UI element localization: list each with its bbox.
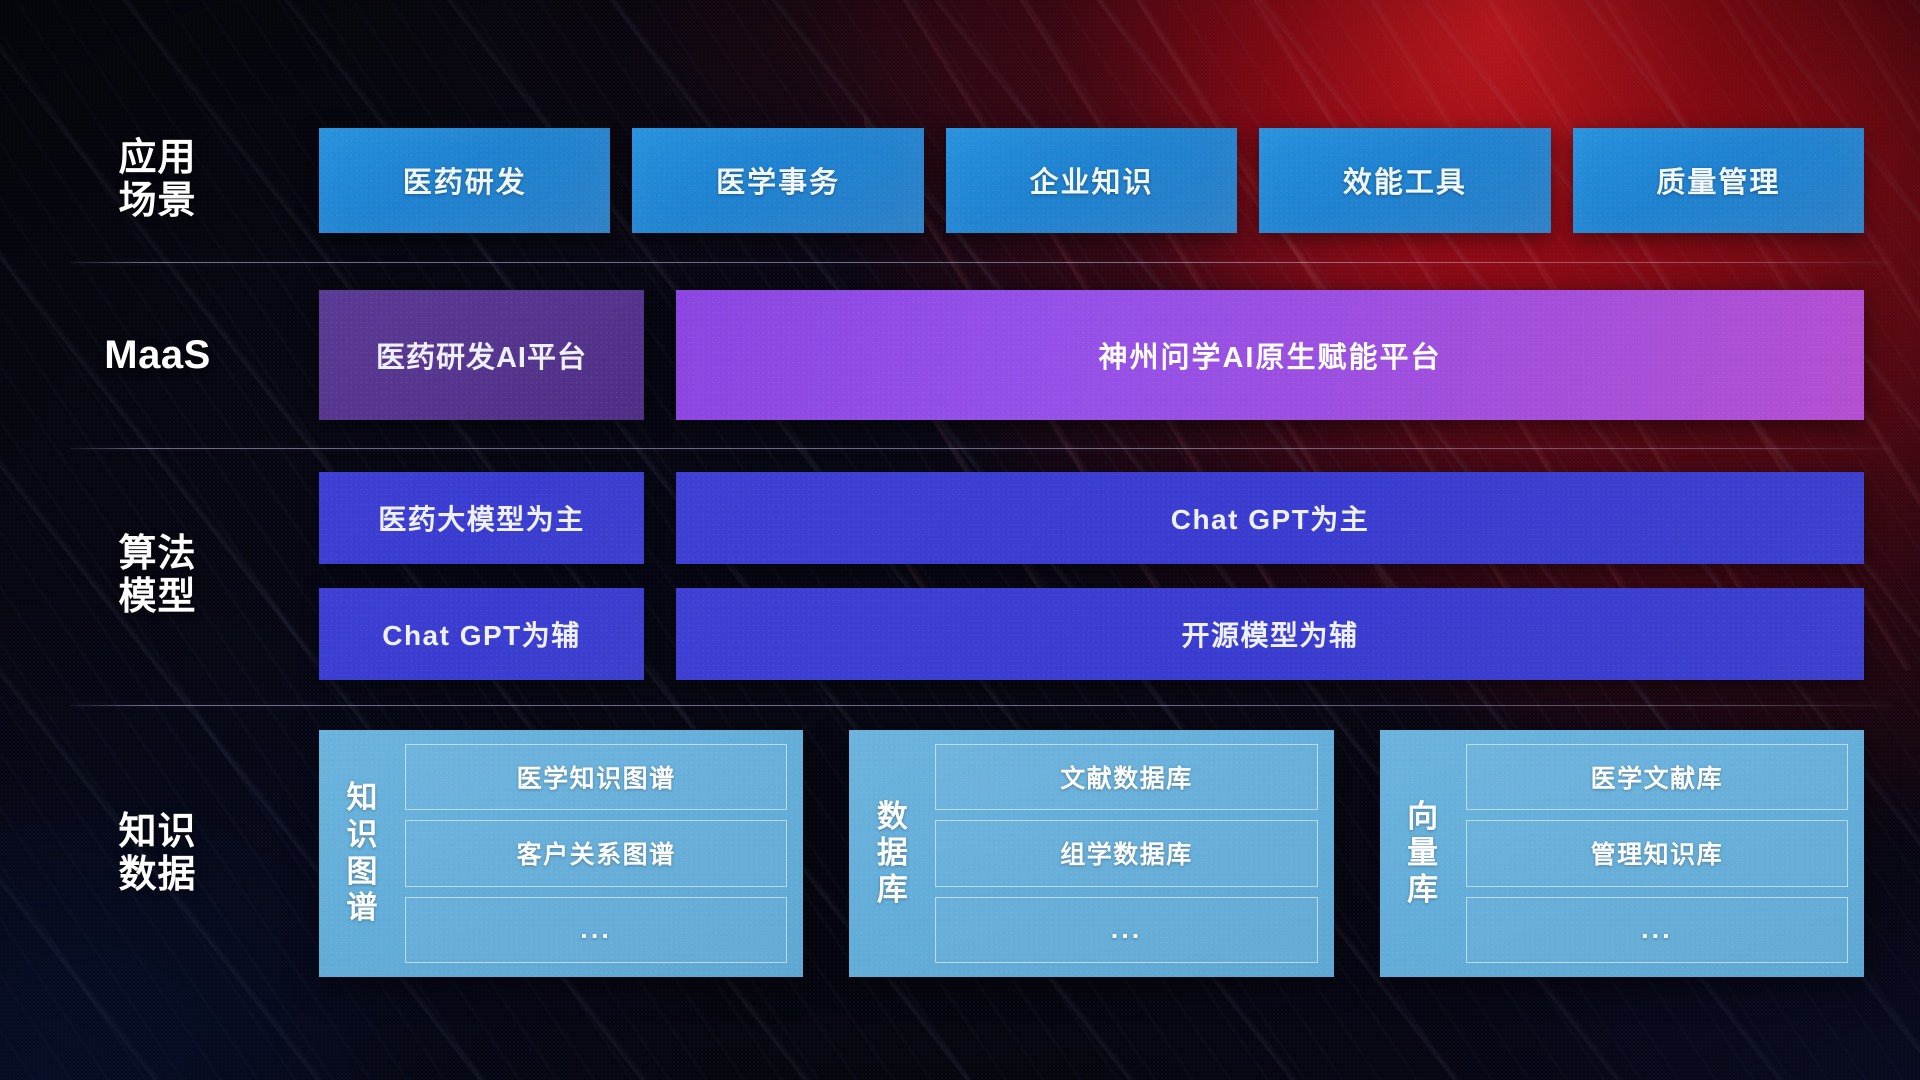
knowledge-panel-1-items: 医学知识图谱 客户关系图谱 ... bbox=[405, 744, 787, 963]
maas-card-pharma-platform-label: 医药研发AI平台 bbox=[376, 334, 587, 376]
row-application-scenarios: 应用 场景 医药研发 医学事务 企业知识 效能工具 质量管理 bbox=[70, 125, 1892, 235]
knowledge-panel-3-title: 向量库 bbox=[1396, 744, 1450, 963]
algorithm-model-line-2: Chat GPT为辅 开源模型为辅 bbox=[319, 588, 1864, 680]
algorithm-model-line-1: 医药大模型为主 Chat GPT为主 bbox=[319, 472, 1864, 564]
maas-card-shenzhou-platform[interactable]: 神州问学AI原生赋能平台 bbox=[676, 290, 1864, 420]
row-knowledge-data: 知识 数据 知识图谱 医学知识图谱 客户关系图谱 ... 数据库 文献数据库 组… bbox=[70, 730, 1892, 977]
knowledge-panel-database[interactable]: 数据库 文献数据库 组学数据库 ... bbox=[849, 730, 1333, 977]
algorithm-card-secondary-domain[interactable]: Chat GPT为辅 bbox=[319, 588, 644, 680]
architecture-diagram: 应用 场景 医药研发 医学事务 企业知识 效能工具 质量管理 bbox=[0, 0, 1920, 1080]
knowledge-item-2-1[interactable]: 文献数据库 bbox=[935, 744, 1317, 810]
knowledge-panel-2-items: 文献数据库 组学数据库 ... bbox=[935, 744, 1317, 963]
divider-1 bbox=[70, 262, 1892, 263]
app-card-3-label: 企业知识 bbox=[1030, 159, 1154, 201]
maas-card-pharma-platform[interactable]: 医药研发AI平台 bbox=[319, 290, 644, 420]
knowledge-item-3-3[interactable]: ... bbox=[1466, 897, 1848, 963]
knowledge-item-1-2[interactable]: 客户关系图谱 bbox=[405, 820, 787, 886]
knowledge-item-2-3[interactable]: ... bbox=[935, 897, 1317, 963]
knowledge-item-1-3[interactable]: ... bbox=[405, 897, 787, 963]
knowledge-item-2-2[interactable]: 组学数据库 bbox=[935, 820, 1317, 886]
row-algorithm-model: 算法 模型 医药大模型为主 Chat GPT为主 Chat GPT为辅 开源模型… bbox=[70, 468, 1892, 683]
app-card-1[interactable]: 医药研发 bbox=[319, 128, 610, 233]
knowledge-panel-1-title: 知识图谱 bbox=[335, 744, 389, 963]
knowledge-item-3-2[interactable]: 管理知识库 bbox=[1466, 820, 1848, 886]
algorithm-card-secondary-domain-label: Chat GPT为辅 bbox=[382, 614, 581, 654]
row-label-maas: MaaS bbox=[70, 333, 245, 378]
knowledge-item-1-1[interactable]: 医学知识图谱 bbox=[405, 744, 787, 810]
app-card-4-label: 效能工具 bbox=[1343, 159, 1467, 201]
algorithm-model-grid: 医药大模型为主 Chat GPT为主 Chat GPT为辅 开源模型为辅 bbox=[245, 472, 1892, 680]
row-label-application-scenarios: 应用 场景 bbox=[70, 137, 245, 222]
maas-card-shenzhou-platform-label: 神州问学AI原生赋能平台 bbox=[1098, 334, 1441, 376]
knowledge-panel-vector-store[interactable]: 向量库 医学文献库 管理知识库 ... bbox=[1380, 730, 1864, 977]
algorithm-card-primary-general-label: Chat GPT为主 bbox=[1171, 498, 1370, 538]
divider-3 bbox=[70, 705, 1892, 706]
divider-2 bbox=[70, 448, 1892, 449]
slide-canvas: 应用 场景 医药研发 医学事务 企业知识 效能工具 质量管理 bbox=[0, 0, 1920, 1080]
algorithm-card-secondary-general[interactable]: 开源模型为辅 bbox=[676, 588, 1864, 680]
knowledge-data-panels: 知识图谱 医学知识图谱 客户关系图谱 ... 数据库 文献数据库 组学数据库 .… bbox=[245, 730, 1892, 977]
app-card-2[interactable]: 医学事务 bbox=[632, 128, 923, 233]
app-card-2-label: 医学事务 bbox=[716, 159, 840, 201]
row-label-algorithm-model: 算法 模型 bbox=[70, 533, 245, 618]
algorithm-card-primary-domain[interactable]: 医药大模型为主 bbox=[319, 472, 644, 564]
app-card-5-label: 质量管理 bbox=[1656, 159, 1780, 201]
algorithm-card-secondary-general-label: 开源模型为辅 bbox=[1181, 614, 1358, 654]
algorithm-card-primary-general[interactable]: Chat GPT为主 bbox=[676, 472, 1864, 564]
app-card-1-label: 医药研发 bbox=[403, 159, 527, 201]
knowledge-panel-knowledge-graph[interactable]: 知识图谱 医学知识图谱 客户关系图谱 ... bbox=[319, 730, 803, 977]
app-card-4[interactable]: 效能工具 bbox=[1259, 128, 1550, 233]
knowledge-panel-3-items: 医学文献库 管理知识库 ... bbox=[1466, 744, 1848, 963]
knowledge-item-3-1[interactable]: 医学文献库 bbox=[1466, 744, 1848, 810]
algorithm-card-primary-domain-label: 医药大模型为主 bbox=[378, 498, 585, 538]
app-card-3[interactable]: 企业知识 bbox=[946, 128, 1237, 233]
knowledge-panel-2-title: 数据库 bbox=[865, 744, 919, 963]
maas-cards: 医药研发AI平台 神州问学AI原生赋能平台 bbox=[245, 290, 1892, 420]
application-scenario-cards: 医药研发 医学事务 企业知识 效能工具 质量管理 bbox=[245, 128, 1892, 233]
row-label-knowledge-data: 知识 数据 bbox=[70, 811, 245, 896]
app-card-5[interactable]: 质量管理 bbox=[1573, 128, 1864, 233]
row-maas: MaaS 医药研发AI平台 神州问学AI原生赋能平台 bbox=[70, 290, 1892, 420]
